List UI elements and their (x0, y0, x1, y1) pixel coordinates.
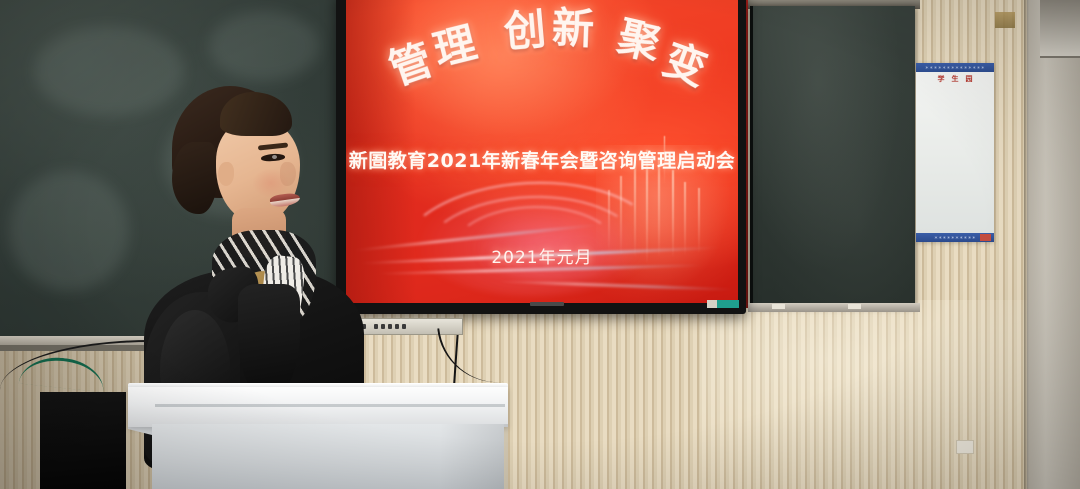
speaker-jacket-lapel (238, 284, 300, 394)
control-panel-button[interactable] (381, 324, 385, 329)
display-badge-white (707, 300, 717, 308)
chalk-piece (772, 304, 785, 309)
speaker-ear (218, 162, 234, 186)
podium-shadow (440, 424, 508, 489)
wall-corner-shelf (1040, 0, 1080, 58)
notice-board: ＊＊＊＊＊＊＊＊＊＊＊＊＊＊ 学生园 ＊＊＊＊＊＊＊＊＊＊ (916, 63, 994, 242)
notice-board-title: 学生园 (916, 74, 994, 84)
speaker-person (120, 70, 350, 410)
title-char-2: 理 (430, 22, 481, 73)
display-brand-logo (530, 302, 564, 306)
wall-corner-edge-shadow (1024, 0, 1029, 489)
title-char-1: 管 (384, 38, 437, 91)
title-char-5: 聚 (614, 16, 664, 66)
control-panel-button[interactable] (402, 324, 406, 329)
podium-edge-line (155, 404, 505, 407)
control-panel-button[interactable] (395, 324, 399, 329)
control-panel-button[interactable] (374, 324, 378, 329)
conference-photo-scene: ＊＊＊＊＊＊＊＊＊＊＊＊＊＊ 学生园 ＊＊＊＊＊＊＊＊＊＊ (0, 0, 1080, 489)
chalk-piece (848, 304, 861, 309)
screen-date: 2021年元月 (346, 243, 738, 268)
wall-outlet (956, 440, 974, 454)
wall-light-glow (700, 300, 1080, 489)
title-char-3: 创 (502, 8, 548, 54)
control-panel-button[interactable] (388, 324, 392, 329)
notice-board-footer-mark (980, 234, 991, 241)
notice-board-header-text: ＊＊＊＊＊＊＊＊＊＊＊＊＊＊ (916, 63, 994, 72)
led-display-screen[interactable]: 管 理 创 新 聚 变 新圄教育2021年新春年会暨咨询管理启动会 2021年元… (346, 0, 738, 303)
display-badge-green (717, 300, 739, 308)
speaker-hair-fringe (220, 92, 292, 136)
speaker-hair-side (172, 142, 218, 214)
screen-title-arc: 管 理 创 新 聚 变 (346, 0, 738, 140)
title-char-4: 新 (551, 7, 594, 50)
wall-bracket (995, 12, 1015, 28)
speaker-eye-highlight (272, 155, 277, 159)
wall-corner-column (1027, 0, 1080, 489)
blackboard-right (750, 6, 915, 306)
title-char-6: 变 (658, 38, 712, 92)
podium-top-surface (128, 387, 508, 427)
chalk-smudge (9, 171, 129, 291)
screen-subtitle: 新圄教育2021年新春年会暨咨询管理启动会 (346, 146, 738, 173)
speaker-lower-body (40, 392, 126, 489)
